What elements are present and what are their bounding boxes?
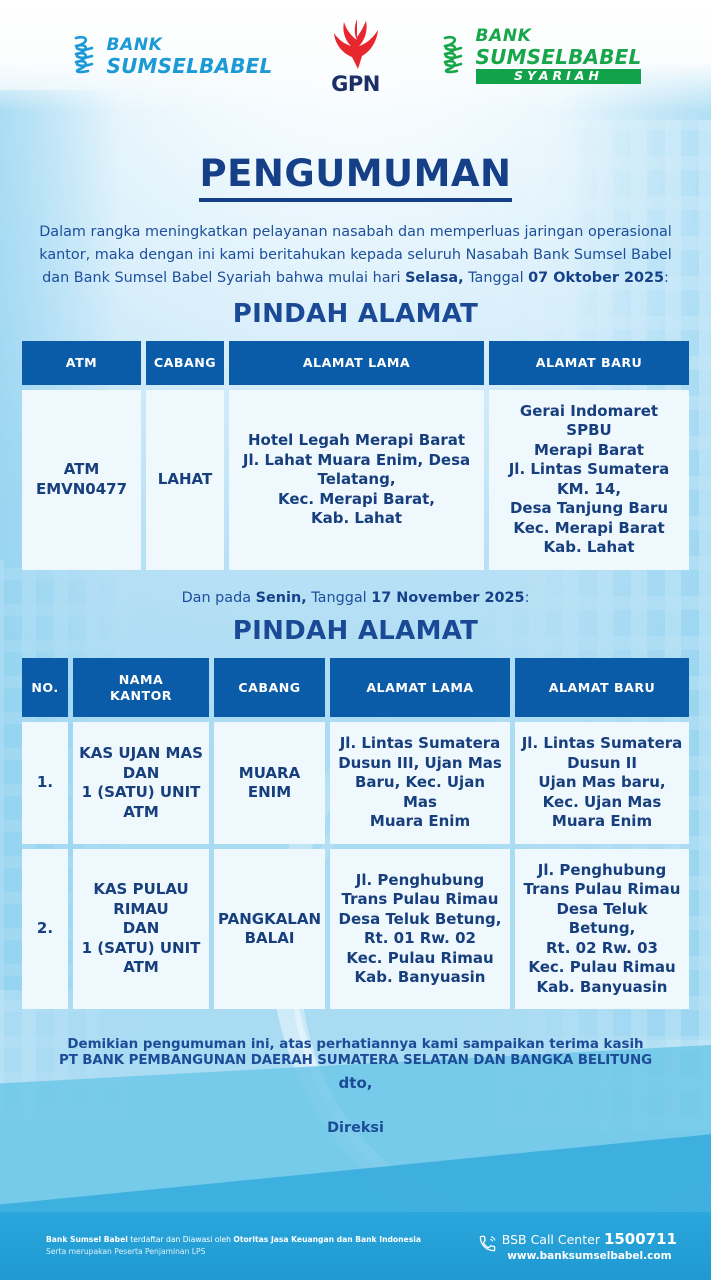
column-header-atm: ATM bbox=[22, 341, 141, 385]
table-header-row: NO. NAMAKANTOR CABANG ALAMAT LAMA ALAMAT… bbox=[22, 658, 689, 717]
closing-block: Demikian pengumuman ini, atas perhatiann… bbox=[20, 1037, 691, 1136]
mid-note-mid: Tanggal bbox=[307, 590, 372, 606]
intro-line-3-mid: Tanggal bbox=[464, 270, 529, 286]
cell-no: 2. bbox=[22, 849, 68, 1010]
intro-line-3-end: : bbox=[664, 270, 669, 286]
gpn-label: GPN bbox=[331, 72, 380, 96]
call-center-label: BSB Call Center bbox=[502, 1232, 604, 1247]
cell-no: 1. bbox=[22, 722, 68, 844]
table-row: 1. KAS UJAN MASDAN1 (SATU) UNITATM MUARA… bbox=[22, 722, 689, 844]
closing-dto: dto, bbox=[20, 1074, 691, 1092]
sumselbabel-syariah-wave-mark-icon bbox=[439, 33, 469, 80]
closing-signatory: Direksi bbox=[20, 1120, 691, 1136]
footer-disclaimer-mid: terdaftar dan Diawasi oleh bbox=[128, 1235, 234, 1244]
column-header-alamat-baru: ALAMAT BARU bbox=[515, 658, 689, 717]
page-title: PENGUMUMAN bbox=[0, 152, 711, 195]
footer-disclaimer-line-2: Serta merupakan Peserta Penjaminan LPS bbox=[46, 1246, 421, 1258]
section-2-note: Dan pada Senin, Tanggal 17 November 2025… bbox=[0, 590, 711, 606]
intro-paragraph: Dalam rangka meningkatkan pelayanan nasa… bbox=[34, 221, 677, 289]
table-header-row: ATM CABANG ALAMAT LAMA ALAMAT BARU bbox=[22, 341, 689, 385]
call-center-number: 1500711 bbox=[604, 1230, 677, 1248]
closing-line-1: Demikian pengumuman ini, atas perhatiann… bbox=[20, 1037, 691, 1052]
column-header-nama-kantor: NAMAKANTOR bbox=[73, 658, 209, 717]
mid-note-pre: Dan pada bbox=[182, 590, 256, 606]
footer: Bank Sumsel Babel terdaftar dan Diawasi … bbox=[0, 1212, 711, 1280]
column-header-cabang: CABANG bbox=[214, 658, 325, 717]
mid-note-day: Senin, bbox=[256, 590, 307, 606]
logo-bank-name: SUMSELBABEL bbox=[107, 56, 273, 76]
phone-icon bbox=[478, 1234, 497, 1257]
cell-alamat-baru: Jl. Lintas SumateraDusun IIUjan Mas baru… bbox=[515, 722, 689, 844]
table-row: ATMEMVN0477 LAHAT Hotel Legah Merapi Bar… bbox=[22, 390, 689, 570]
mid-note-end: : bbox=[525, 590, 530, 606]
page-title-text: PENGUMUMAN bbox=[199, 152, 511, 202]
logo-bank-sumselbabel-syariah: BANK SUMSELBABEL SYARIAH bbox=[439, 28, 642, 85]
cell-alamat-baru: Gerai Indomaret SPBUMerapi BaratJl. Lint… bbox=[489, 390, 689, 570]
table-office-relocation: NO. NAMAKANTOR CABANG ALAMAT LAMA ALAMAT… bbox=[22, 658, 689, 1009]
logo-syariah-band: SYARIAH bbox=[476, 69, 642, 85]
intro-date: 07 Oktober 2025 bbox=[528, 270, 664, 286]
table-atm-relocation: ATM CABANG ALAMAT LAMA ALAMAT BARU ATMEM… bbox=[22, 341, 689, 570]
poster-content: PENGUMUMAN Dalam rangka meningkatkan pel… bbox=[0, 112, 711, 1136]
cell-nama-kantor: KAS PULAURIMAUDAN1 (SATU) UNITATM bbox=[73, 849, 209, 1010]
intro-day: Selasa, bbox=[405, 270, 464, 286]
logo-gpn: GPN bbox=[327, 17, 383, 96]
call-center-line: BSB Call Center 1500711 bbox=[502, 1229, 677, 1249]
footer-contact[interactable]: BSB Call Center 1500711 www.banksumselba… bbox=[478, 1229, 677, 1263]
cell-nama-kantor: KAS UJAN MASDAN1 (SATU) UNITATM bbox=[73, 722, 209, 844]
section-1-title: PINDAH ALAMAT bbox=[0, 299, 711, 329]
intro-line-1: Dalam rangka meningkatkan pelayanan nasa… bbox=[39, 224, 672, 240]
column-header-cabang: CABANG bbox=[146, 341, 224, 385]
logo-syariah-bank-name: SUMSELBABEL bbox=[476, 47, 642, 67]
logo-syariah-bank-word: BANK bbox=[476, 28, 642, 45]
announcement-poster: BANK SUMSELBABEL GPN bbox=[0, 0, 711, 1280]
sumselbabel-wave-mark-icon bbox=[70, 33, 100, 80]
footer-disclaimer-bold-2: Otoritas Jasa Keuangan dan Bank Indonesi… bbox=[233, 1235, 421, 1244]
cell-cabang: PANGKALANBALAI bbox=[214, 849, 325, 1010]
logo-bar: BANK SUMSELBABEL GPN bbox=[0, 0, 711, 112]
mid-note-date: 17 November 2025 bbox=[371, 590, 524, 606]
column-header-alamat-baru: ALAMAT BARU bbox=[489, 341, 689, 385]
gpn-garuda-icon bbox=[327, 17, 383, 76]
cell-alamat-lama: Jl. Lintas SumateraDusun III, Ujan MasBa… bbox=[330, 722, 510, 844]
footer-disclaimer: Bank Sumsel Babel terdaftar dan Diawasi … bbox=[46, 1234, 421, 1258]
cell-cabang: MUARA ENIM bbox=[214, 722, 325, 844]
cell-cabang: LAHAT bbox=[146, 390, 224, 570]
logo-bank-word: BANK bbox=[107, 37, 273, 54]
column-header-no: NO. bbox=[22, 658, 68, 717]
footer-disclaimer-bold-1: Bank Sumsel Babel bbox=[46, 1235, 128, 1244]
logo-bank-sumselbabel: BANK SUMSELBABEL bbox=[70, 33, 273, 80]
cell-atm-code: ATMEMVN0477 bbox=[22, 390, 141, 570]
cell-alamat-lama: Hotel Legah Merapi BaratJl. Lahat Muara … bbox=[229, 390, 484, 570]
column-header-alamat-lama: ALAMAT LAMA bbox=[330, 658, 510, 717]
column-header-alamat-lama: ALAMAT LAMA bbox=[229, 341, 484, 385]
cell-alamat-lama: Jl. PenghubungTrans Pulau RimauDesa Telu… bbox=[330, 849, 510, 1010]
intro-line-3-pre: dan Bank Sumsel Babel Syariah bahwa mula… bbox=[42, 270, 405, 286]
intro-line-2: kantor, maka dengan ini kami beritahukan… bbox=[39, 247, 671, 263]
closing-company-name: PT BANK PEMBANGUNAN DAERAH SUMATERA SELA… bbox=[20, 1053, 691, 1068]
cell-alamat-baru: Jl. PenghubungTrans Pulau RimauDesa Telu… bbox=[515, 849, 689, 1010]
section-2-title: PINDAH ALAMAT bbox=[0, 616, 711, 646]
footer-website[interactable]: www.banksumselbabel.com bbox=[502, 1249, 677, 1263]
table-row: 2. KAS PULAURIMAUDAN1 (SATU) UNITATM PAN… bbox=[22, 849, 689, 1010]
